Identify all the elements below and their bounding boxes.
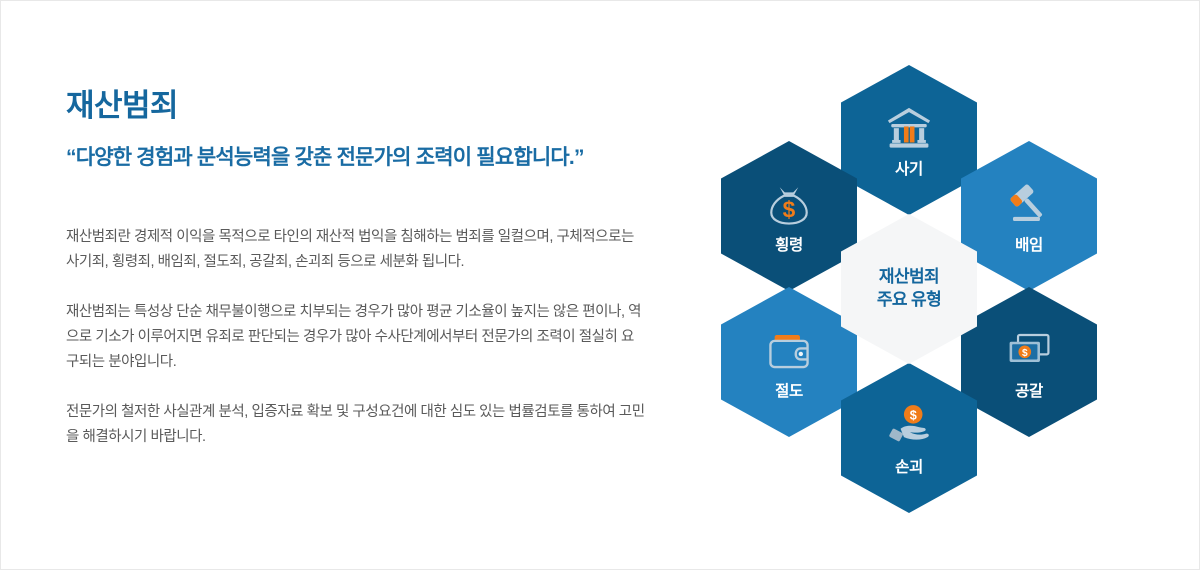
hex-label-embezzlement: 횡령: [775, 238, 803, 254]
hex-label-destruction: 손괴: [895, 460, 923, 476]
center-label-line1: 재산범죄: [879, 266, 939, 289]
body-text-block: 재산범죄란 경제적 이익을 목적으로 타인의 재산적 법익을 침해하는 범죄를 …: [66, 225, 666, 450]
hex-label-breach-of-trust: 배임: [1015, 238, 1043, 254]
hex-node-fraud[interactable]: 사기: [841, 65, 977, 215]
page-subtitle-quote: “다양한 경험과 분석능력을 갖춘 전문가의 조력이 필요합니다.”: [66, 145, 666, 171]
hex-label-extortion: 공갈: [1015, 384, 1043, 400]
content-column: 재산범죄 “다양한 경험과 분석능력을 갖춘 전문가의 조력이 필요합니다.” …: [66, 89, 666, 450]
hex-node-breach-of-trust[interactable]: 배임: [961, 141, 1097, 291]
body-paragraph-3: 전문가의 철저한 사실관계 분석, 입증자료 확보 및 구성요건에 대한 심도 …: [66, 400, 646, 450]
body-paragraph-1: 재산범죄란 경제적 이익을 목적으로 타인의 재산적 법익을 침해하는 범죄를 …: [66, 225, 646, 275]
property-crime-page: 재산범죄 “다양한 경험과 분석능력을 갖춘 전문가의 조력이 필요합니다.” …: [0, 0, 1200, 570]
page-title: 재산범죄: [66, 89, 666, 123]
hand-coin-icon: $: [882, 400, 936, 454]
svg-text:$: $: [783, 197, 796, 223]
hex-node-theft[interactable]: 절도: [721, 287, 857, 437]
hex-label-fraud: 사기: [895, 162, 923, 178]
money-bag-icon: $: [762, 178, 816, 232]
hex-label-theft: 절도: [775, 384, 803, 400]
svg-text:$: $: [1022, 348, 1028, 359]
crime-types-hex-diagram: 사기 $ 횡령 배임: [701, 47, 1121, 507]
bank-icon: [882, 102, 936, 156]
hex-node-extortion[interactable]: $ 공갈: [961, 287, 1097, 437]
body-paragraph-2: 재산범죄는 특성상 단순 채무불이행으로 치부되는 경우가 많아 평균 기소율이…: [66, 300, 646, 375]
center-label-line2: 주요 유형: [877, 289, 941, 312]
gavel-icon: [1002, 178, 1056, 232]
hex-node-center: 재산범죄 주요 유형: [841, 214, 977, 364]
svg-text:$: $: [910, 409, 917, 423]
hex-node-destruction[interactable]: $ 손괴: [841, 363, 977, 513]
hex-node-embezzlement[interactable]: $ 횡령: [721, 141, 857, 291]
banknotes-icon: $: [1002, 324, 1056, 378]
wallet-icon: [762, 324, 816, 378]
